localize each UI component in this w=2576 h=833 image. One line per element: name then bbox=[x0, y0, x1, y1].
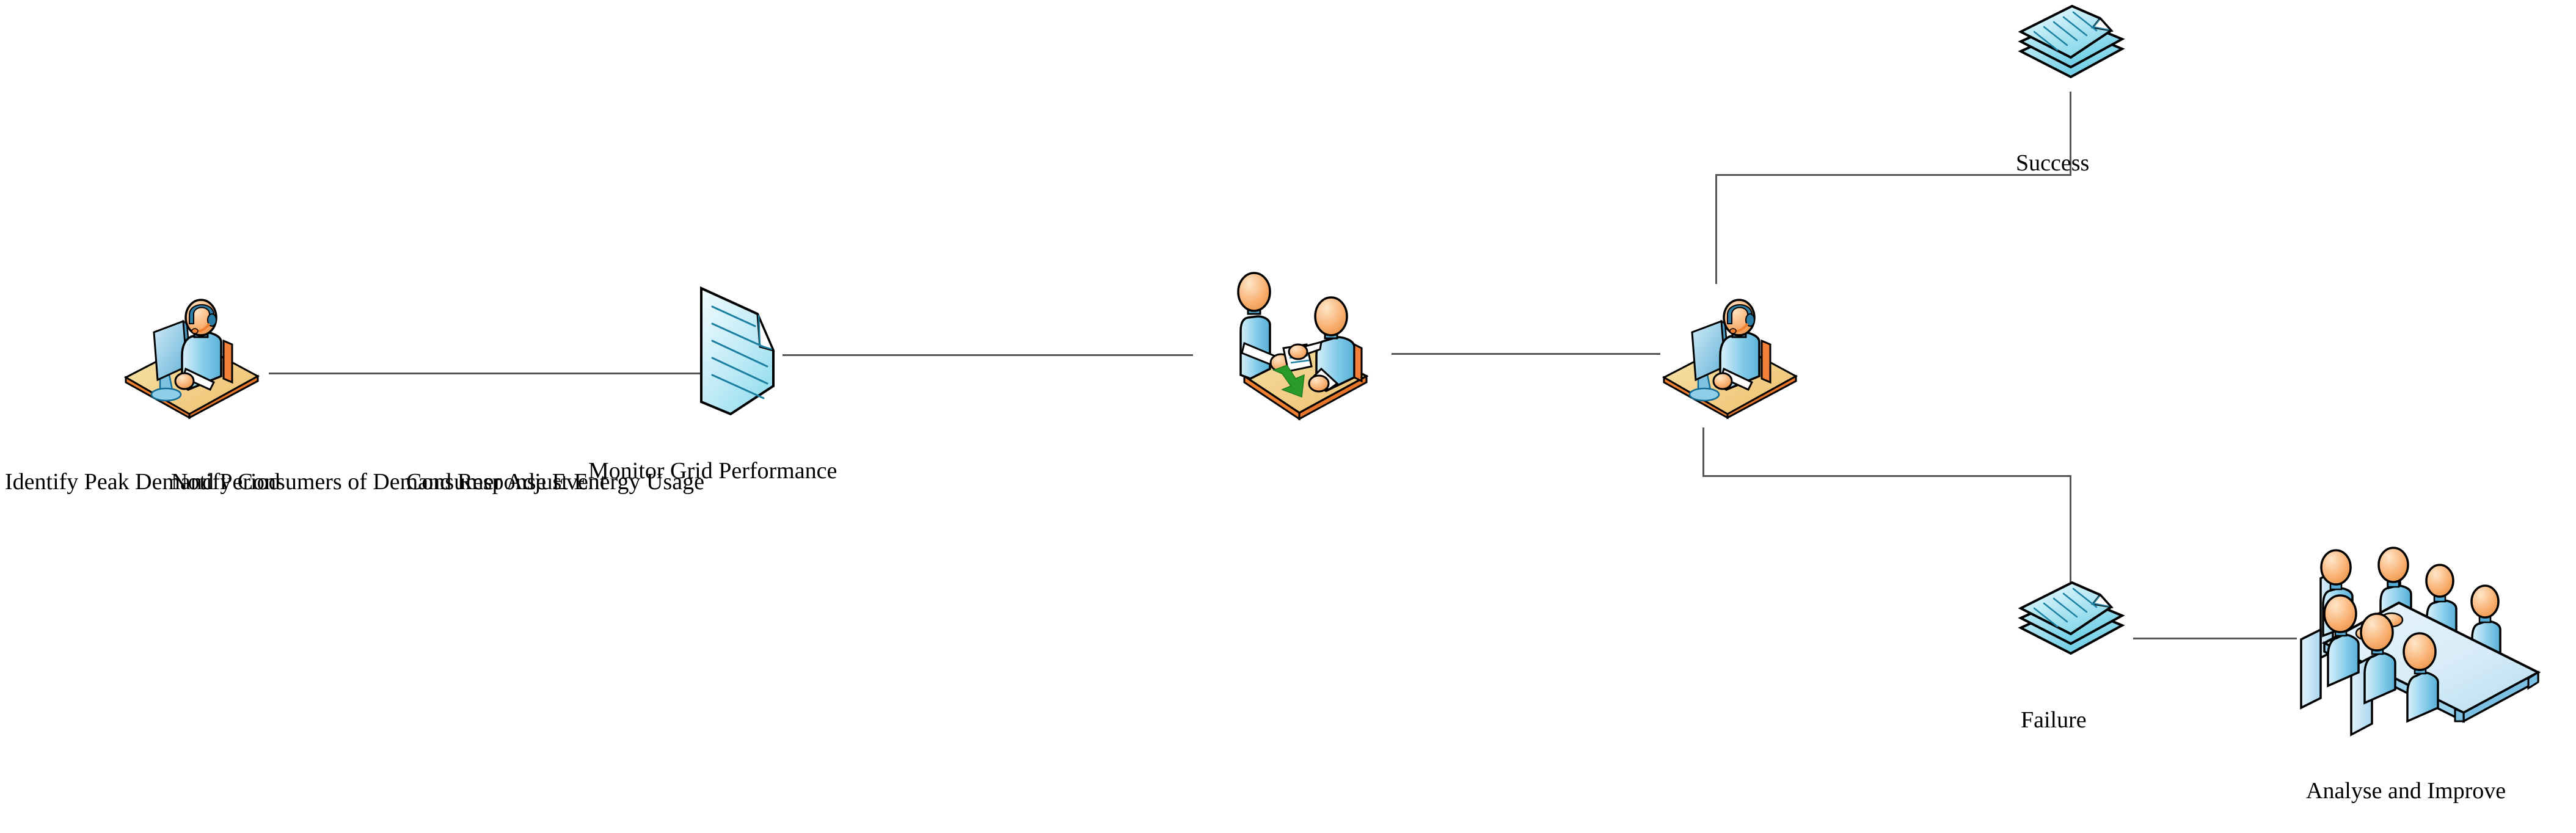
meeting-table-icon[interactable] bbox=[2295, 522, 2570, 711]
stacked-documents-icon[interactable] bbox=[2013, 577, 2129, 674]
node-label-success: Success bbox=[2016, 151, 2089, 175]
connector-notify-to-consumer bbox=[783, 354, 1193, 356]
connector-monitor-to-success-vertical bbox=[1715, 174, 1717, 284]
connector-identify-to-notify bbox=[269, 373, 715, 374]
document-sheet-icon[interactable] bbox=[696, 282, 787, 420]
connector-monitor-to-failure-vertical bbox=[1702, 427, 1704, 476]
connector-consumer-to-monitor bbox=[1392, 353, 1660, 355]
connector-failure-to-analyse bbox=[2133, 638, 2297, 639]
person-at-desk-icon[interactable] bbox=[122, 304, 261, 418]
node-label-analyse-and-improve: Analyse and Improve bbox=[2306, 779, 2506, 802]
two-people-at-table-icon[interactable] bbox=[1206, 274, 1397, 421]
node-label-failure: Failure bbox=[2021, 708, 2087, 732]
stacked-documents-icon[interactable] bbox=[2013, 0, 2129, 98]
connector-monitor-to-failure-horizontal bbox=[1702, 475, 2071, 477]
node-label-monitor-grid-performance: Monitor Grid Performance bbox=[588, 459, 837, 482]
person-at-desk-icon[interactable] bbox=[1660, 304, 1800, 418]
connector-failure-drop bbox=[2070, 475, 2071, 585]
diagram-canvas: Identify Peak Demand Period bbox=[0, 0, 2576, 833]
